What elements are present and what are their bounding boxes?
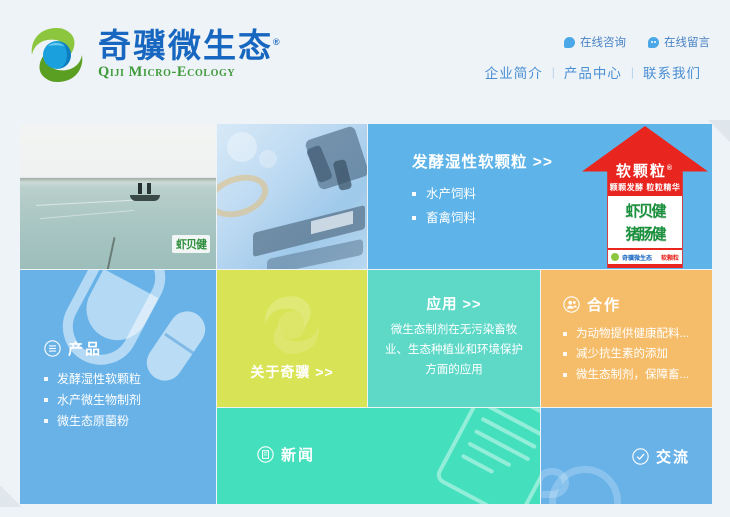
- capsule-icon-small: [140, 304, 212, 387]
- tile-about[interactable]: 关于奇骥 >>: [217, 270, 367, 407]
- product-content: 产品 发酵湿性软颗粒 水产微生物制剂 微生态原菌粉: [44, 338, 141, 432]
- cooperation-list: 为动物提供健康配料... 减少抗生素的添加 微生态制剂，保障畜...: [563, 324, 689, 385]
- nav-item-contact[interactable]: 联系我们: [634, 62, 710, 82]
- logo-registered-mark: ®: [273, 37, 282, 47]
- pond-boat: [130, 195, 160, 201]
- badge-product-panel: 虾贝健 猪肠健: [608, 196, 682, 248]
- fermented-granules-list: 水产饲料 畜禽饲料: [412, 183, 553, 231]
- badge-product-1: 虾贝健: [625, 200, 664, 221]
- pond-pole: [107, 237, 116, 269]
- badge-title: 软颗粒®: [582, 160, 708, 181]
- nav-item-company[interactable]: 企业简介: [476, 62, 552, 82]
- tile-pond-photo[interactable]: 虾贝健: [20, 124, 216, 269]
- list-item[interactable]: 水产微生物制剂: [44, 390, 141, 411]
- logo-watermark-icon: [259, 292, 325, 358]
- product-list: 发酵湿性软颗粒 水产微生物制剂 微生态原菌粉: [44, 369, 141, 432]
- list-item[interactable]: 减少抗生素的添加: [563, 344, 689, 364]
- tile-application[interactable]: 应用 >> 微生态制剂在无污染畜牧业、生态种植业和环境保护方面的应用: [368, 270, 540, 407]
- pond-wake-line: [36, 199, 144, 206]
- corner-decoration-bottom-left: [0, 485, 22, 507]
- tile-grid: 虾贝健 发酵湿性软颗粒 >> 水产饲料 畜禽: [20, 124, 712, 504]
- online-message-link[interactable]: 在线留言: [648, 34, 710, 50]
- pond-person-1: [138, 183, 142, 194]
- pond-photo-image: 虾贝健: [20, 124, 216, 269]
- fermented-granules-content: 发酵湿性软颗粒 >> 水产饲料 畜禽饲料: [412, 150, 553, 231]
- microscope-bokeh-2: [259, 150, 277, 168]
- chat-bubble-icon: [564, 37, 575, 48]
- online-consult-label: 在线咨询: [580, 34, 626, 50]
- news-title: 新闻: [281, 444, 315, 465]
- product-header: 产品: [44, 338, 141, 359]
- document-watermark-icon: [433, 408, 540, 504]
- list-item[interactable]: 水产饲料: [412, 183, 553, 207]
- online-consult-link[interactable]: 在线咨询: [564, 34, 626, 50]
- tile-fermented-granules[interactable]: 发酵湿性软颗粒 >> 水产饲料 畜禽饲料 软颗粒® 颗颗发酵 粒粒精华 虾贝健 …: [368, 124, 712, 269]
- list-item[interactable]: 为动物提供健康配料...: [563, 324, 689, 344]
- pond-photo-watermark: 虾贝健: [172, 235, 210, 253]
- badge-registered-mark: ®: [667, 165, 674, 172]
- tile-communication[interactable]: 交流: [541, 408, 712, 504]
- about-title[interactable]: 关于奇骥 >>: [217, 362, 367, 382]
- list-item[interactable]: 微生态制剂，保障畜...: [563, 365, 689, 385]
- main-nav: 企业简介 | 产品中心 | 联系我们: [476, 62, 710, 82]
- tile-news[interactable]: 新闻: [217, 408, 540, 504]
- watermark-line: [480, 417, 537, 450]
- fermented-granules-title[interactable]: 发酵湿性软颗粒 >>: [412, 150, 553, 172]
- logo-title-cn: 奇骥微生态®: [98, 29, 282, 64]
- logo-text: 奇骥微生态® Qiji Micro-Ecology: [98, 29, 282, 82]
- badge-brand-logo-icon: [611, 253, 619, 261]
- news-header: 新闻: [257, 444, 315, 465]
- badge-footer-right: 软颗粒: [661, 253, 679, 262]
- watermark-line: [474, 429, 531, 462]
- site-header: 奇骥微生态® Qiji Micro-Ecology 在线咨询 在线留言 企业简介…: [0, 0, 730, 112]
- message-bubble-icon: [648, 37, 659, 48]
- application-title[interactable]: 应用 >>: [368, 293, 540, 314]
- logo-title-en: Qiji Micro-Ecology: [98, 64, 282, 81]
- pond-horizon: [20, 178, 216, 182]
- soft-granule-badge[interactable]: 软颗粒® 颗颗发酵 粒粒精华 虾贝健 猪肠健 奇骥微生态 软颗粒: [582, 126, 708, 268]
- document-icon: [257, 446, 274, 463]
- badge-product-2: 猪肠健: [625, 223, 664, 244]
- top-links: 在线咨询 在线留言: [564, 34, 710, 50]
- badge-footer-brand: 奇骥微生态: [622, 253, 652, 262]
- people-icon: [563, 296, 580, 313]
- pond-person-2: [147, 183, 151, 194]
- application-description: 微生态制剂在无污染畜牧业、生态种植业和环境保护方面的应用: [382, 320, 526, 380]
- nav-item-products[interactable]: 产品中心: [555, 62, 631, 82]
- cooperation-title: 合作: [587, 294, 621, 315]
- microscope-bokeh-1: [227, 132, 257, 162]
- online-message-label: 在线留言: [664, 34, 710, 50]
- product-title: 产品: [68, 338, 102, 359]
- cooperation-header: 合作: [563, 294, 689, 315]
- pond-wake-line-2: [40, 210, 134, 219]
- cooperation-content: 合作 为动物提供健康配料... 减少抗生素的添加 微生态制剂，保障畜...: [563, 294, 689, 385]
- badge-subtitle: 颗颗发酵 粒粒精华: [582, 182, 708, 193]
- microscope-glassware: [217, 167, 274, 224]
- list-item[interactable]: 发酵湿性软颗粒: [44, 369, 141, 390]
- page-root: 奇骥微生态® Qiji Micro-Ecology 在线咨询 在线留言 企业简介…: [0, 0, 730, 517]
- communication-title: 交流: [656, 446, 690, 467]
- tile-cooperation[interactable]: 合作 为动物提供健康配料... 减少抗生素的添加 微生态制剂，保障畜...: [541, 270, 712, 407]
- badge-footer: 奇骥微生态 软颗粒: [608, 250, 682, 264]
- logo-mark-icon: [26, 24, 88, 86]
- communication-header: 交流: [632, 446, 690, 467]
- site-logo[interactable]: 奇骥微生态® Qiji Micro-Ecology: [26, 24, 282, 86]
- list-lines-icon: [44, 340, 61, 357]
- list-item[interactable]: 畜禽饲料: [412, 207, 553, 231]
- tile-product[interactable]: 产品 发酵湿性软颗粒 水产微生物制剂 微生态原菌粉: [20, 270, 216, 504]
- list-item[interactable]: 微生态原菌粉: [44, 411, 141, 432]
- microscope-image: [217, 124, 367, 269]
- check-circle-icon: [632, 448, 649, 465]
- tile-microscope-photo[interactable]: [217, 124, 367, 269]
